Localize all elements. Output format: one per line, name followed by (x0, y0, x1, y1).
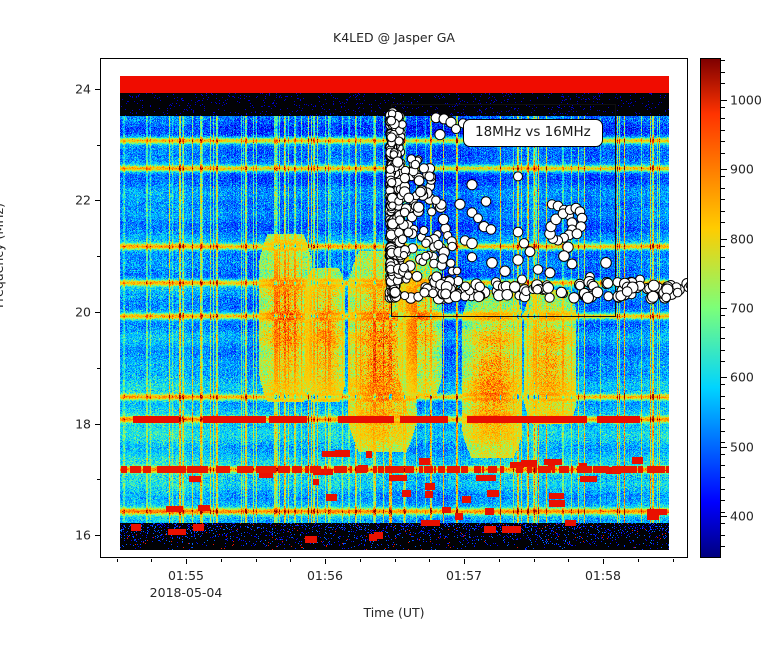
colorbar-tick-minor (721, 315, 725, 316)
colorbar-tick-minor (721, 327, 725, 328)
x-axis-date-label: 2018-05-04 (150, 585, 223, 600)
colorbar-tick-major (721, 447, 727, 448)
colorbar-tick-minor (721, 350, 725, 351)
x-tick-major (464, 559, 465, 564)
colorbar-tick-label: 900 (730, 162, 754, 177)
x-tick-label: 01:56 (307, 568, 343, 583)
colorbar-tick-minor (721, 465, 725, 466)
colorbar-tick-minor (721, 512, 725, 513)
y-tick-major (95, 312, 100, 313)
y-tick-minor (97, 479, 100, 480)
colorbar-tick-minor (721, 246, 725, 247)
colorbar-tick-minor (721, 83, 725, 84)
x-tick-major (603, 559, 604, 564)
page-title: K4LED @ Jasper GA (100, 30, 688, 45)
colorbar-tick-minor (721, 118, 725, 119)
colorbar-tick-minor (721, 280, 725, 281)
x-tick-minor (117, 559, 118, 562)
y-tick-minor (97, 368, 100, 369)
spectrogram-image (120, 76, 669, 550)
colorbar-tick-minor (721, 176, 725, 177)
colorbar-tick-minor (721, 257, 725, 258)
y-tick-label: 16 (75, 528, 91, 543)
colorbar-tick-minor (721, 292, 725, 293)
colorbar-tick-minor (721, 535, 725, 536)
colorbar-tick-minor (721, 419, 725, 420)
x-tick-label: 01:58 (585, 568, 621, 583)
y-tick-minor (97, 256, 100, 257)
colorbar-tick-minor (721, 60, 725, 61)
y-tick-label: 20 (75, 305, 91, 320)
colorbar-tick-minor (721, 454, 725, 455)
y-tick-label: 18 (75, 416, 91, 431)
colorbar-tick-minor (721, 408, 725, 409)
y-tick-minor (97, 145, 100, 146)
x-tick-label: 01:55 (168, 568, 204, 583)
x-tick-minor (638, 559, 639, 562)
colorbar-tick-label: 600 (730, 370, 754, 385)
y-axis-label: Frequency (MHz) (0, 203, 6, 308)
colorbar-tick-minor (721, 442, 725, 443)
colorbar-tick-major (721, 100, 727, 101)
colorbar-tick-label: 800 (730, 231, 754, 246)
x-tick-minor (360, 559, 361, 562)
colorbar-tick-minor (721, 130, 725, 131)
colorbar-tick-minor (721, 269, 725, 270)
colorbar-tick-minor (721, 477, 725, 478)
y-tick-label: 22 (75, 193, 91, 208)
x-tick-minor (673, 559, 674, 562)
colorbar-tick-minor (721, 523, 725, 524)
y-tick-major (95, 535, 100, 536)
colorbar-tick-minor (721, 72, 725, 73)
colorbar-gradient (701, 59, 720, 557)
x-tick-minor (151, 559, 152, 562)
x-tick-label: 01:57 (446, 568, 482, 583)
colorbar-tick-label: 700 (730, 301, 754, 316)
colorbar-tick-minor (721, 188, 725, 189)
colorbar-tick-major (721, 169, 727, 170)
x-tick-minor (429, 559, 430, 562)
x-axis-label: Time (UT) (100, 605, 688, 620)
x-tick-minor (290, 559, 291, 562)
colorbar-tick-minor (721, 199, 725, 200)
colorbar-tick-major (721, 239, 727, 240)
annotation-label: 18MHz vs 16MHz (463, 119, 603, 147)
x-tick-minor (395, 559, 396, 562)
colorbar-tick-minor (721, 222, 725, 223)
y-tick-major (95, 89, 100, 90)
colorbar-tick-minor (721, 546, 725, 547)
colorbar-tick-major (721, 516, 727, 517)
y-tick-label: 24 (75, 81, 91, 96)
colorbar-tick-major (721, 308, 727, 309)
colorbar-tick-label: 1000 (730, 92, 762, 107)
y-tick-major (95, 424, 100, 425)
y-tick-major (95, 200, 100, 201)
colorbar-tick-minor (721, 500, 725, 501)
x-tick-minor (256, 559, 257, 562)
colorbar-tick-minor (721, 141, 725, 142)
colorbar-tick-minor (721, 396, 725, 397)
x-tick-minor (534, 559, 535, 562)
colorbar-tick-major (721, 377, 727, 378)
colorbar-tick-minor (721, 211, 725, 212)
x-tick-minor (499, 559, 500, 562)
colorbar-tick-minor (721, 107, 725, 108)
colorbar-tick-minor (721, 361, 725, 362)
colorbar-tick-minor (721, 489, 725, 490)
colorbar-tick-minor (721, 338, 725, 339)
x-tick-major (325, 559, 326, 564)
x-tick-minor (221, 559, 222, 562)
x-tick-major (186, 559, 187, 564)
main-axes[interactable]: 18MHz vs 16MHz (100, 58, 688, 558)
colorbar-tick-minor (721, 384, 725, 385)
colorbar[interactable] (700, 58, 721, 558)
colorbar-tick-minor (721, 431, 725, 432)
colorbar-tick-label: 500 (730, 439, 754, 454)
spectrogram-figure: K4LED @ Jasper GA 18MHz vs 16MHz 1618202… (0, 0, 783, 656)
spectrogram-canvas (120, 76, 669, 550)
colorbar-tick-minor (721, 153, 725, 154)
x-tick-minor (568, 559, 569, 562)
colorbar-tick-label: 400 (730, 509, 754, 524)
